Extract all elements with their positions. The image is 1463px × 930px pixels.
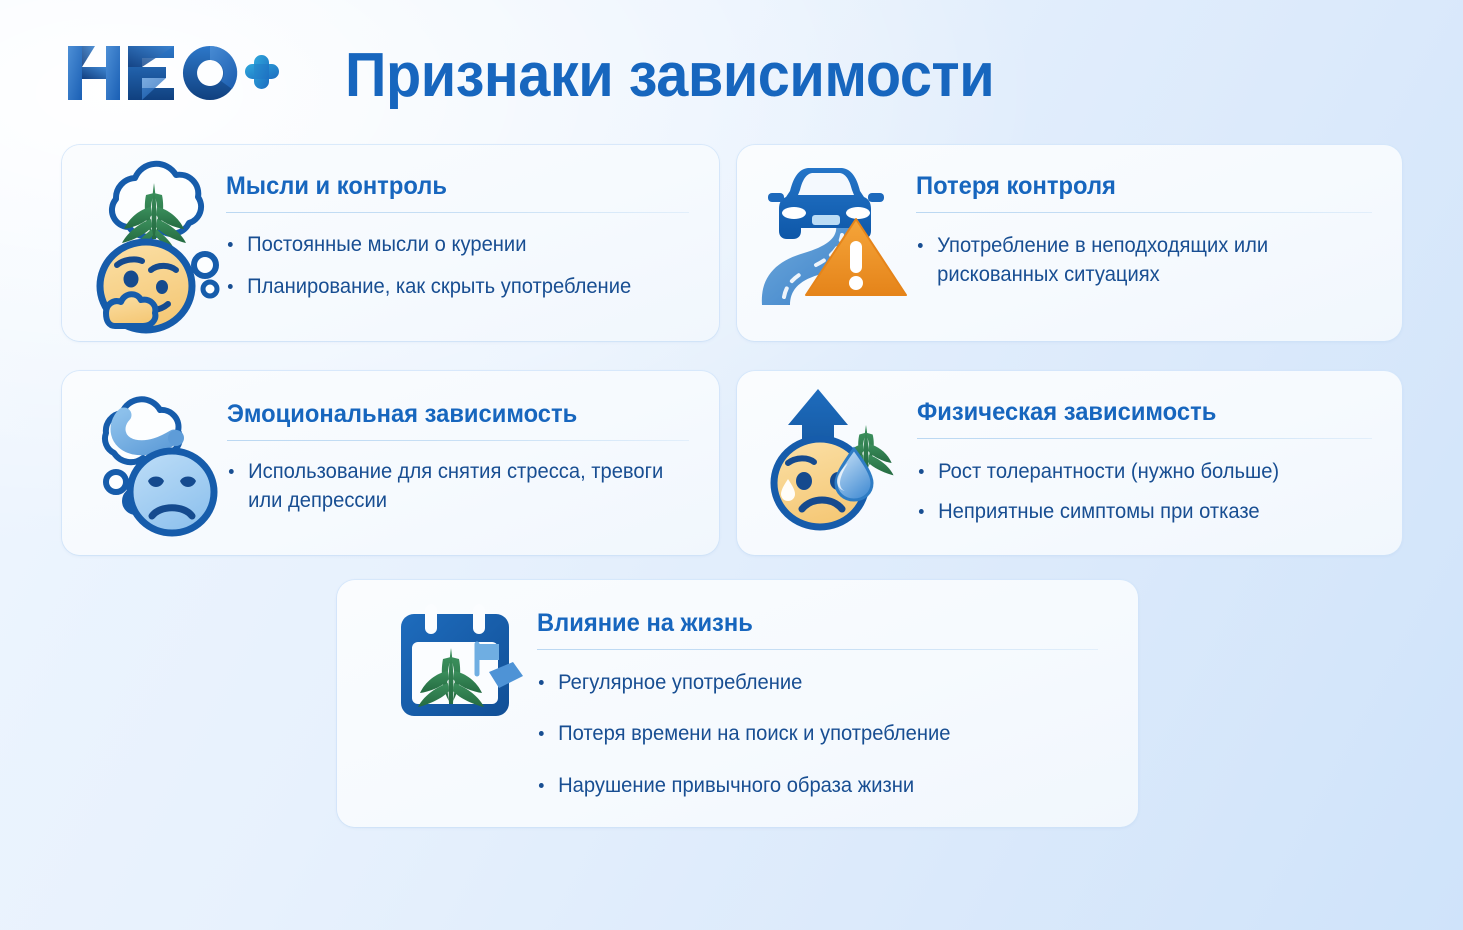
calendar-with-cannabis-leaf-icon bbox=[337, 580, 537, 725]
card-title: Мысли и контроль bbox=[226, 173, 666, 201]
title-divider bbox=[227, 440, 689, 441]
card-title: Влияние на жизнь bbox=[537, 610, 1070, 638]
card-title: Физическая зависимость bbox=[917, 399, 1349, 427]
thinking-face-with-thought-cloud-cannabis-leaf-icon bbox=[62, 145, 222, 336]
bullet-list: Постоянные мысли о курении Планирование,… bbox=[226, 230, 689, 303]
neo-plus-logo bbox=[62, 42, 282, 104]
card-physical-dependence: Физическая зависимость Рост толерантност… bbox=[737, 371, 1402, 555]
title-divider bbox=[226, 212, 689, 213]
bullet-list: Употребление в неподходящих или рискован… bbox=[916, 231, 1372, 291]
page-title: Признаки зависимости bbox=[345, 40, 994, 111]
list-item: Потеря времени на поиск и употребление bbox=[537, 719, 1076, 749]
list-item: Неприятные симптомы при отказе bbox=[917, 497, 1354, 527]
card-emotional-dependence: Эмоциональная зависимость Использование … bbox=[62, 371, 719, 555]
list-item: Нарушение привычного образа жизни bbox=[537, 771, 1076, 801]
card-loss-of-control: Потеря контроля Употребление в неподходя… bbox=[737, 145, 1402, 341]
card-title: Потеря контроля bbox=[916, 173, 1349, 201]
card-impact-on-life: Влияние на жизнь Регулярное употребление… bbox=[337, 580, 1138, 827]
list-item: Использование для снятия стресса, тревог… bbox=[227, 457, 671, 517]
worried-face-with-sweat-drop-up-arrow-cannabis-leaf-icon bbox=[737, 371, 917, 533]
list-item: Употребление в неподходящих или рискован… bbox=[916, 231, 1354, 291]
list-item: Планирование, как скрыть употребление bbox=[226, 272, 670, 302]
list-item: Регулярное употребление bbox=[537, 668, 1076, 698]
title-divider bbox=[537, 649, 1098, 650]
sad-blue-face-with-thought-cloud-icon bbox=[62, 371, 227, 539]
car-on-winding-road-with-warning-triangle-icon bbox=[737, 145, 912, 312]
list-item: Рост толерантности (нужно больше) bbox=[917, 457, 1354, 487]
bullet-list: Использование для снятия стресса, тревог… bbox=[227, 457, 689, 517]
card-thoughts: Мысли и контроль Постоянные мысли о куре… bbox=[62, 145, 719, 341]
title-divider bbox=[916, 212, 1372, 213]
bullet-list: Рост толерантности (нужно больше) Неприя… bbox=[917, 457, 1372, 528]
card-title: Эмоциональная зависимость bbox=[227, 401, 666, 429]
bullet-list: Регулярное употребление Потеря времени н… bbox=[537, 668, 1098, 801]
title-divider bbox=[917, 438, 1372, 439]
page-header: Признаки зависимости bbox=[0, 0, 1463, 140]
list-item: Постоянные мысли о курении bbox=[226, 230, 670, 260]
